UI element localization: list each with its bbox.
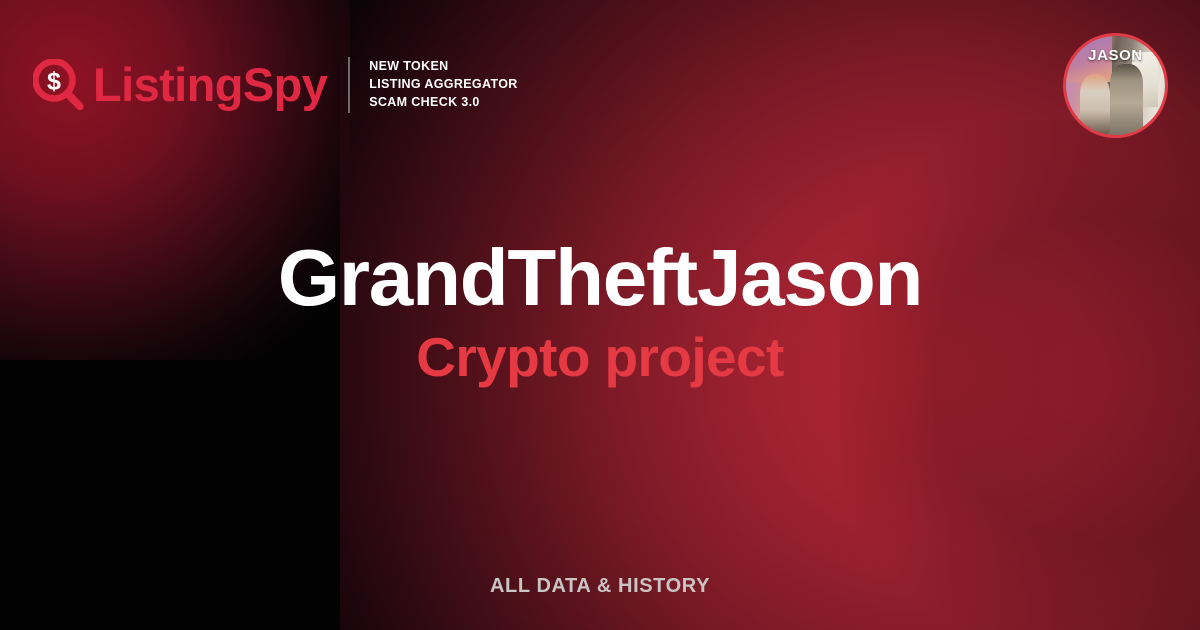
brand-lockup[interactable]: $ ListingSpy NEW TOKEN LISTING AGGREGATO… — [33, 57, 518, 113]
card-main: GrandTheftJason Crypto project — [0, 236, 1200, 388]
dollar-magnifier-icon: $ — [33, 59, 85, 111]
brand-name: ListingSpy — [93, 61, 327, 108]
avatar-character-right — [1110, 64, 1144, 135]
tagline-line-1: NEW TOKEN — [369, 58, 517, 76]
tagline-line-3: SCAM CHECK 3.0 — [369, 94, 517, 112]
avatar-character-left — [1080, 74, 1110, 135]
avatar[interactable]: JASON — [1063, 33, 1168, 138]
avatar-label: JASON — [1066, 47, 1165, 64]
brand-divider — [348, 57, 350, 113]
footer-text: ALL DATA & HISTORY — [490, 575, 710, 597]
share-card: $ ListingSpy NEW TOKEN LISTING AGGREGATO… — [0, 0, 1200, 630]
card-header: $ ListingSpy NEW TOKEN LISTING AGGREGATO… — [0, 0, 1200, 170]
tagline-line-2: LISTING AGGREGATOR — [369, 76, 517, 94]
svg-text:$: $ — [47, 68, 61, 96]
card-footer: ALL DATA & HISTORY — [0, 575, 1200, 598]
page-title: GrandTheftJason — [0, 236, 1200, 319]
brand-tagline: NEW TOKEN LISTING AGGREGATOR SCAM CHECK … — [369, 58, 517, 111]
page-subtitle: Crypto project — [0, 327, 1200, 388]
